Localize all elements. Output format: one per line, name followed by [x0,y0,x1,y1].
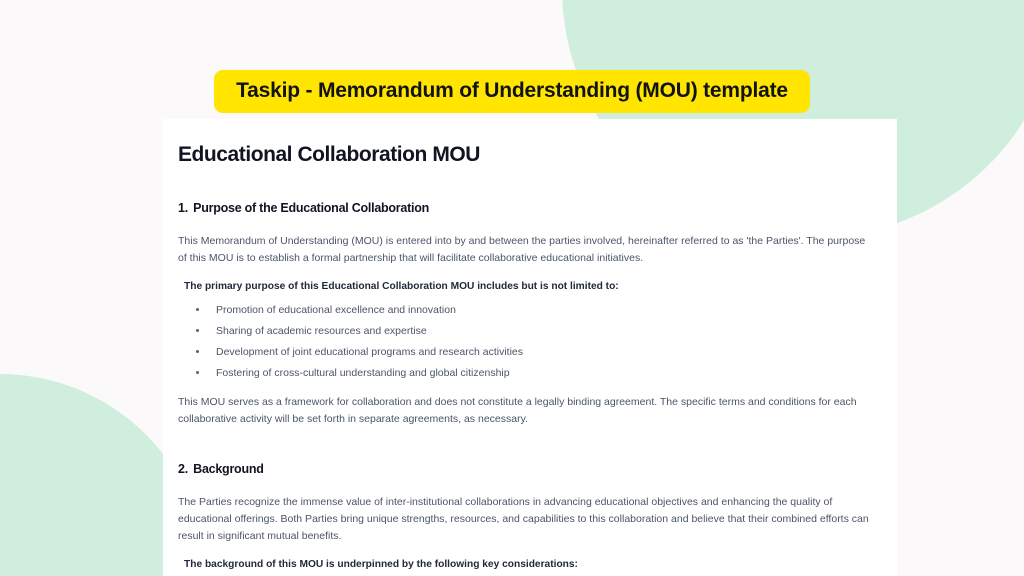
section-number-2: 2. [178,462,188,476]
section-number-1: 1. [178,201,188,215]
list-item-label: Development of joint educational program… [216,346,523,358]
section-lead-in-2: The background of this MOU is underpinne… [178,557,875,573]
bullet-dot-icon [196,308,199,311]
document-section-2: 2. Background The Parties recognize the … [178,462,875,576]
bullet-dot-icon [196,350,199,353]
bullet-dot-icon [196,329,199,332]
section-paragraph-1: This Memorandum of Understanding (MOU) i… [178,233,875,267]
list-item-label: Sharing of academic resources and expert… [216,325,427,337]
document-section-1: 1. Purpose of the Educational Collaborat… [178,201,875,427]
section-heading-1: 1. Purpose of the Educational Collaborat… [178,201,875,216]
list-item: Promotion of educational excellence and … [178,302,875,323]
section-bullet-list-1: Promotion of educational excellence and … [178,302,875,386]
section-paragraph-2: The Parties recognize the immense value … [178,494,875,545]
list-item: Sharing of academic resources and expert… [178,323,875,344]
document-title: Educational Collaboration MOU [178,142,875,167]
list-item-label: Promotion of educational excellence and … [216,304,456,316]
bullet-dot-icon [196,371,199,374]
section-lead-in-1: The primary purpose of this Educational … [178,279,875,295]
section-closing-1: This MOU serves as a framework for colla… [178,394,875,428]
template-title-badge: Taskip - Memorandum of Understanding (MO… [214,70,810,113]
section-title-2: Background [193,462,263,476]
title-badge-container: Taskip - Memorandum of Understanding (MO… [0,70,1024,113]
list-item-label: Fostering of cross-cultural understandin… [216,367,510,379]
document-card: Educational Collaboration MOU 1. Purpose… [163,119,897,576]
section-heading-2: 2. Background [178,462,875,477]
section-title-1: Purpose of the Educational Collaboration [193,201,429,215]
list-item: Development of joint educational program… [178,344,875,365]
list-item: Fostering of cross-cultural understandin… [178,365,875,386]
